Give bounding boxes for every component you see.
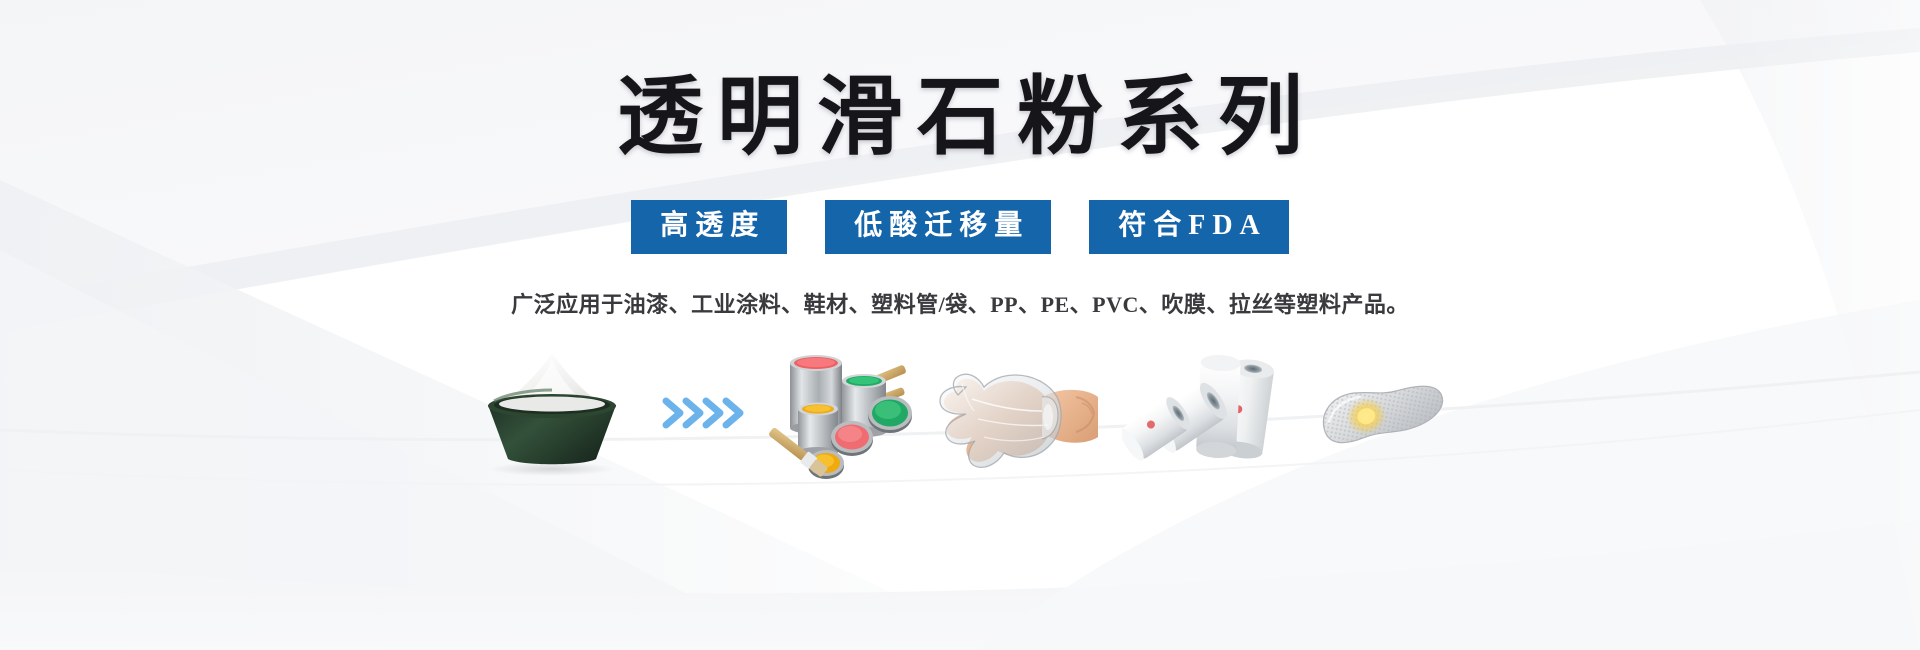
feature-badge-fda-compliant[interactable]: 符合FDA — [1089, 200, 1289, 254]
feature-badge-high-transparency[interactable]: 高透度 — [631, 200, 787, 254]
page-title: 透明滑石粉系列 — [603, 74, 1317, 160]
talc-powder-bowl-image — [462, 349, 638, 477]
process-arrows-icon — [660, 391, 746, 435]
product-banner: 透明滑石粉系列 高透度 低酸迁移量 符合FDA 广泛应用于油漆、工业涂料、鞋材、… — [0, 0, 1920, 650]
plastic-glove-image — [938, 353, 1100, 473]
product-description: 广泛应用于油漆、工业涂料、鞋材、塑料管/袋、PP、PE、PVC、吹膜、拉丝等塑料… — [511, 294, 1409, 316]
feature-badge-row: 高透度 低酸迁移量 符合FDA — [631, 200, 1289, 254]
banner-content: 透明滑石粉系列 高透度 低酸迁移量 符合FDA 广泛应用于油漆、工业涂料、鞋材、… — [0, 0, 1920, 650]
paint-cans-image — [768, 346, 916, 480]
plastic-film-rolls-image — [1122, 352, 1282, 474]
shoe-sole-image — [1304, 358, 1458, 468]
application-illustration-row — [430, 338, 1490, 488]
feature-badge-low-acid-migration[interactable]: 低酸迁移量 — [825, 200, 1051, 254]
